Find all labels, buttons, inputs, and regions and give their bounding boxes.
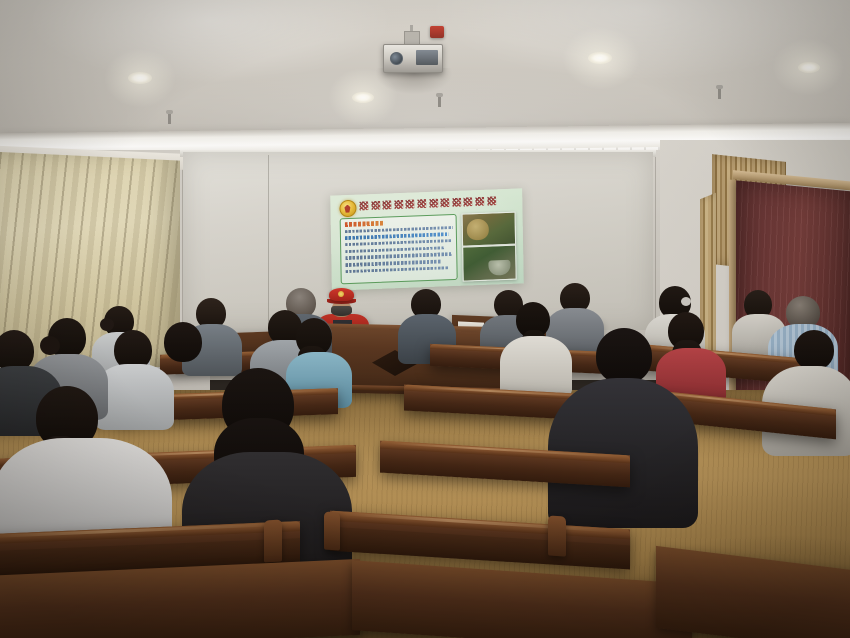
hair-bun	[100, 318, 114, 331]
projector-lens	[390, 52, 403, 65]
hair-bun	[40, 336, 60, 355]
wall-seam-right	[655, 150, 656, 340]
slide-content-box	[340, 214, 458, 284]
slide-text-line	[346, 266, 449, 274]
ceiling-projector	[383, 44, 443, 73]
downlight-center-1	[352, 92, 374, 103]
downlight-right-4	[798, 62, 820, 73]
ceiling-sensor-right	[718, 88, 721, 99]
bench-armrest	[324, 511, 340, 550]
torso	[146, 356, 228, 422]
projection-screen-seam	[268, 155, 269, 327]
meeting-room-photo	[0, 0, 850, 638]
hair-clip	[681, 297, 691, 306]
presenter-face-mask	[331, 306, 352, 316]
ceiling-sensor-center	[438, 96, 441, 107]
ceiling-sensor-left	[168, 113, 171, 124]
head	[794, 330, 834, 370]
torso	[500, 336, 572, 398]
smoke-detector	[430, 26, 444, 38]
presenter-cap-logo-icon	[338, 291, 344, 297]
downlight-left-1	[128, 72, 152, 84]
slide-photo-top	[462, 212, 517, 247]
bench-armrest	[548, 515, 566, 556]
downlight-right-1	[588, 52, 612, 64]
slide-photo-bottom	[462, 245, 517, 282]
slide-section-heading	[345, 221, 385, 227]
presentation-slide	[330, 188, 524, 290]
bench-armrest	[264, 520, 282, 563]
projector-panel	[416, 50, 438, 65]
head	[596, 328, 652, 384]
slide-text-line	[345, 259, 441, 266]
